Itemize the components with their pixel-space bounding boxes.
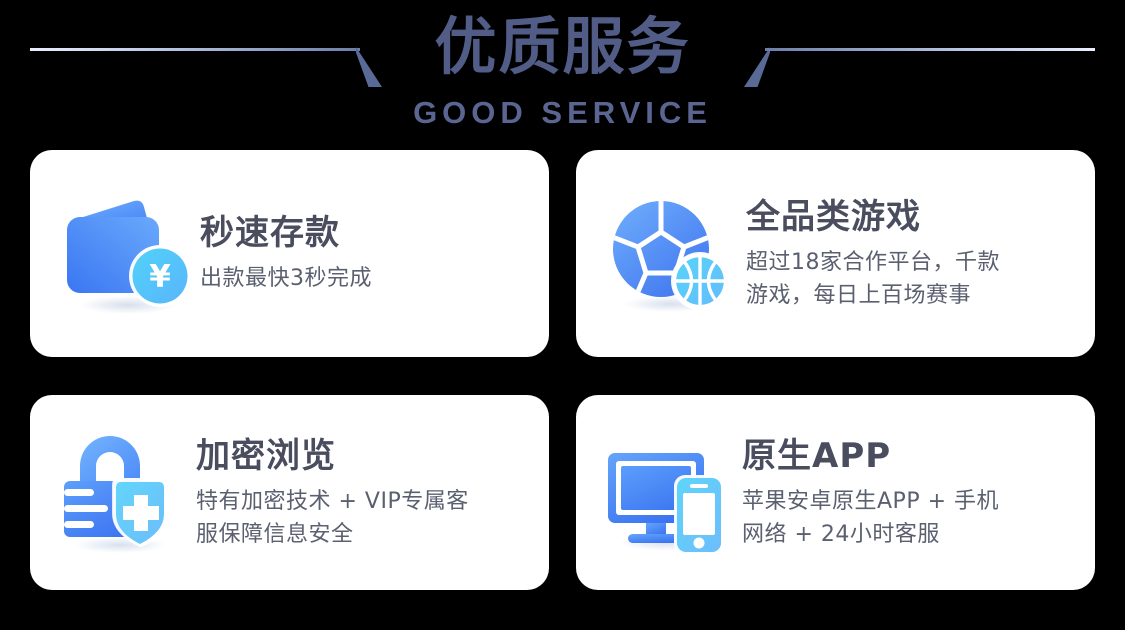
card-text: 秒速存款 出款最快3秒完成 — [190, 212, 527, 295]
card-title: 秒速存款 — [200, 212, 527, 254]
card-subtitle-line1: 特有加密技术 + VIP专属客 — [196, 485, 527, 518]
card-text: 原生APP 苹果安卓原生APP + 手机 网络 + 24小时客服 — [732, 435, 1073, 551]
card-subtitle-line2: 服保障信息安全 — [196, 518, 527, 551]
smartphone-icon — [674, 475, 724, 555]
feature-card-grid: ¥ 秒速存款 出款最快3秒完成 — [30, 150, 1095, 590]
card-title: 原生APP — [742, 435, 1073, 477]
yuan-symbol: ¥ — [149, 259, 171, 295]
feature-card-deposit[interactable]: ¥ 秒速存款 出款最快3秒完成 — [30, 150, 549, 357]
shackle — [80, 436, 140, 483]
card-text: 全品类游戏 超过18家合作平台，千款 游戏，每日上百场赛事 — [736, 196, 1073, 312]
card-subtitle-line1: 超过18家合作平台，千款 — [746, 246, 1073, 279]
card-title: 全品类游戏 — [746, 196, 1073, 238]
card-subtitle: 苹果安卓原生APP + 手机 网络 + 24小时客服 — [742, 485, 1073, 551]
feature-card-encryption[interactable]: 加密浏览 特有加密技术 + VIP专属客 服保障信息安全 — [30, 395, 549, 590]
good-service-panel: 优质服务 GOOD SERVICE — [0, 0, 1125, 630]
padlock-icon — [58, 431, 186, 555]
wallet-icon: ¥ — [58, 188, 190, 320]
card-subtitle-line1: 苹果安卓原生APP + 手机 — [742, 485, 1073, 518]
feature-card-native-app[interactable]: 原生APP 苹果安卓原生APP + 手机 网络 + 24小时客服 — [576, 395, 1095, 590]
card-title: 加密浏览 — [196, 435, 527, 477]
card-subtitle: 特有加密技术 + VIP专属客 服保障信息安全 — [196, 485, 527, 551]
soccer-ball-icon — [604, 188, 736, 320]
page-title: 优质服务 — [0, 8, 1125, 86]
card-subtitle-line2: 游戏，每日上百场赛事 — [746, 279, 1073, 312]
page-subtitle: GOOD SERVICE — [0, 96, 1125, 130]
header: 优质服务 GOOD SERVICE — [0, 0, 1125, 140]
card-subtitle-line2: 网络 + 24小时客服 — [742, 518, 1073, 551]
card-subtitle: 出款最快3秒完成 — [200, 262, 527, 295]
monitor-icon — [604, 431, 732, 555]
card-text: 加密浏览 特有加密技术 + VIP专属客 服保障信息安全 — [186, 435, 527, 551]
feature-card-games[interactable]: 全品类游戏 超过18家合作平台，千款 游戏，每日上百场赛事 — [576, 150, 1095, 357]
card-subtitle: 超过18家合作平台，千款 游戏，每日上百场赛事 — [746, 246, 1073, 312]
basketball-lines — [675, 255, 726, 306]
